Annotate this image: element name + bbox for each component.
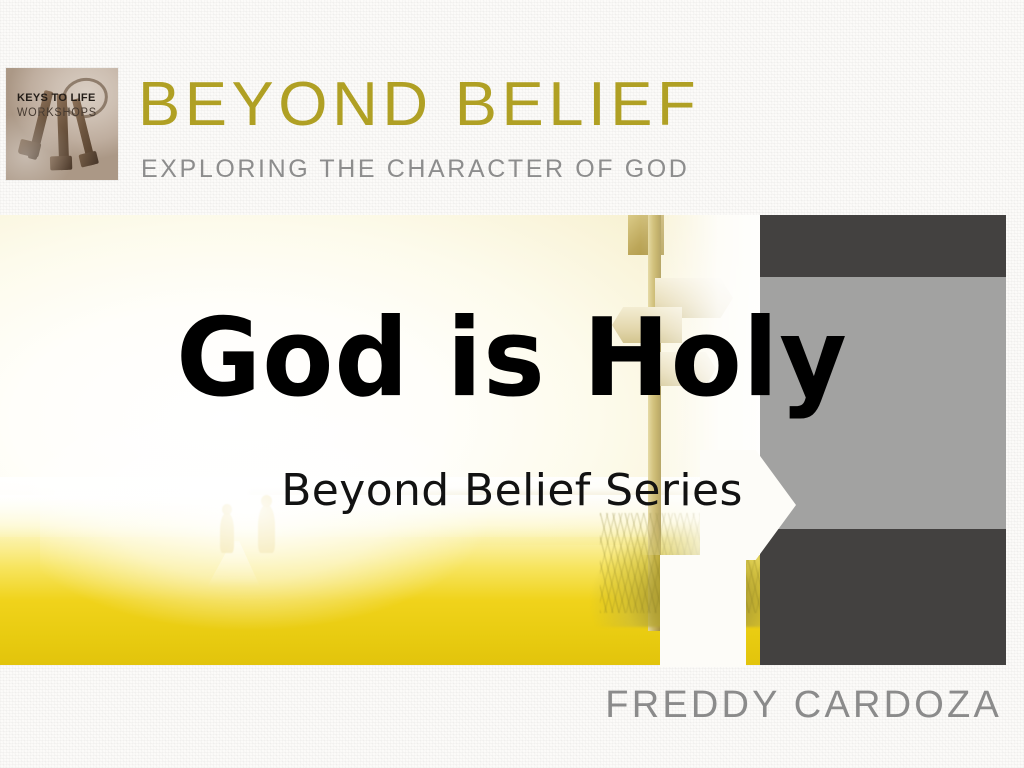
series-subtitle: EXPLORING THE CHARACTER OF GOD xyxy=(141,155,689,183)
slide-subheadline: Beyond Belief Series xyxy=(0,466,1024,516)
photo-sun-bloom xyxy=(40,405,560,665)
logo-text-primary: KEYS TO LIFE xyxy=(17,92,96,104)
slide-headline: God is Holy xyxy=(20,303,1003,415)
media-band xyxy=(0,215,1006,665)
hero-photograph xyxy=(0,215,760,665)
author-name: FREDDY CARDOZA xyxy=(605,684,1002,726)
slide-header: KEYS TO LIFE WORKSHOPS BEYOND BELIEF EXP… xyxy=(0,0,1024,200)
presentation-slide: KEYS TO LIFE WORKSHOPS BEYOND BELIEF EXP… xyxy=(0,0,1024,768)
chevron-backdrop xyxy=(660,555,746,667)
logo-text-secondary: WORKSHOPS xyxy=(17,106,97,119)
brand-logo: KEYS TO LIFE WORKSHOPS xyxy=(6,68,118,180)
gray-accent-panel xyxy=(745,215,1006,665)
logo-light-glow xyxy=(6,68,118,180)
series-title: BEYOND BELIEF xyxy=(138,72,700,138)
